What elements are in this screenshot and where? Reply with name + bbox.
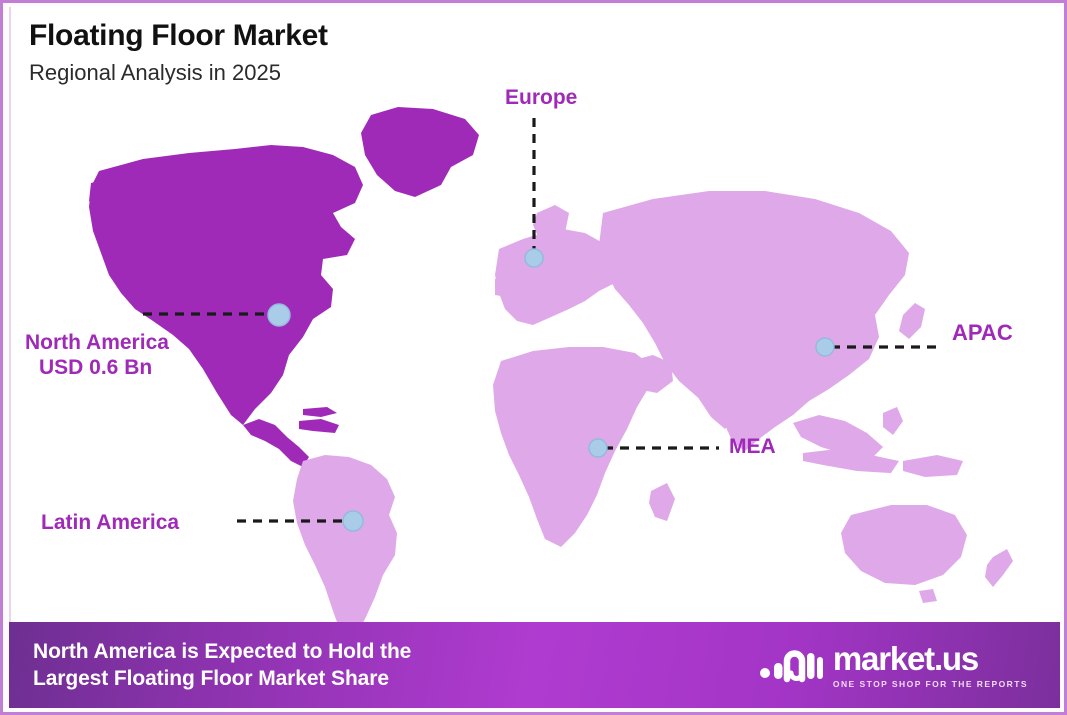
logo-text-block: market.us ONE STOP SHOP FOR THE REPORTS bbox=[833, 642, 1028, 689]
market-us-logo[interactable]: market.us ONE STOP SHOP FOR THE REPORTS bbox=[759, 642, 1038, 689]
region-label-apac-name: APAC bbox=[952, 320, 1013, 345]
page-subtitle: Regional Analysis in 2025 bbox=[29, 60, 328, 86]
logo-wordmark: market.us bbox=[833, 642, 978, 675]
region-label-apac: APAC bbox=[952, 320, 1013, 346]
infographic-page: Floating Floor Market Regional Analysis … bbox=[0, 0, 1067, 715]
marker-apac[interactable] bbox=[816, 338, 834, 356]
page-title: Floating Floor Market bbox=[29, 19, 328, 52]
footer-banner: North America is Expected to Hold the La… bbox=[9, 622, 1060, 708]
region-label-north-america: North America USD 0.6 Bn bbox=[25, 331, 169, 381]
marker-north-america[interactable] bbox=[268, 304, 290, 326]
header: Floating Floor Market Regional Analysis … bbox=[29, 19, 328, 86]
region-label-mea: MEA bbox=[729, 435, 776, 460]
marker-latin-america[interactable] bbox=[343, 511, 363, 531]
region-label-europe-name: Europe bbox=[505, 86, 577, 109]
region-label-latin-america-name: Latin America bbox=[41, 511, 179, 534]
region-label-north-america-name: North America bbox=[25, 331, 169, 354]
footer-headline-line1: North America is Expected to Hold the bbox=[33, 640, 411, 663]
logo-tagline: ONE STOP SHOP FOR THE REPORTS bbox=[833, 679, 1028, 689]
map-markers bbox=[268, 249, 834, 531]
region-label-north-america-value: USD 0.6 Bn bbox=[25, 356, 169, 381]
region-label-europe: Europe bbox=[505, 86, 577, 111]
region-label-latin-america: Latin America bbox=[41, 511, 179, 536]
footer-headline: North America is Expected to Hold the La… bbox=[33, 638, 411, 693]
marker-europe[interactable] bbox=[525, 249, 543, 267]
region-label-mea-name: MEA bbox=[729, 435, 776, 458]
logo-mark-icon bbox=[759, 643, 823, 687]
marker-mea[interactable] bbox=[589, 439, 607, 457]
footer-headline-line2: Largest Floating Floor Market Share bbox=[33, 665, 411, 692]
